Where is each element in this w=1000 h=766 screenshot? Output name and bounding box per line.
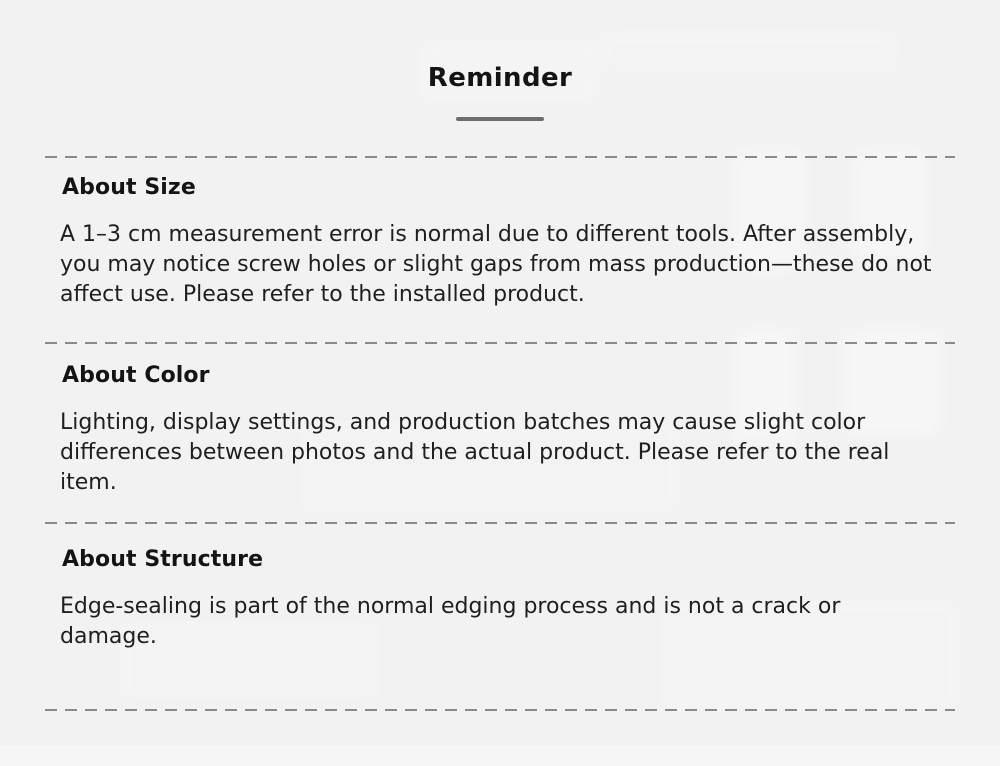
section-about-color: About Color Lighting, display settings, … [0, 362, 1000, 498]
section-heading: About Color [0, 362, 1000, 390]
section-body: Lighting, display settings, and producti… [0, 408, 1000, 498]
title-divider-bar [456, 117, 544, 121]
page-title: Reminder [0, 64, 1000, 93]
section-about-size: About Size A 1–3 cm measurement error is… [0, 174, 1000, 310]
dashed-divider-after-color [45, 522, 955, 524]
dashed-divider-after-size [45, 342, 955, 344]
reminder-page: Reminder About Size A 1–3 cm measurement… [0, 0, 1000, 766]
footer-band [0, 745, 1000, 766]
section-body: Edge-sealing is part of the normal edgin… [0, 592, 1000, 652]
dashed-divider-top [45, 156, 955, 158]
section-body: A 1–3 cm measurement error is normal due… [0, 220, 1000, 310]
section-about-structure: About Structure Edge-sealing is part of … [0, 546, 1000, 652]
section-heading: About Structure [0, 546, 1000, 574]
page-header: Reminder [0, 0, 1000, 121]
section-heading: About Size [0, 174, 1000, 202]
dashed-divider-bottom [45, 709, 955, 711]
